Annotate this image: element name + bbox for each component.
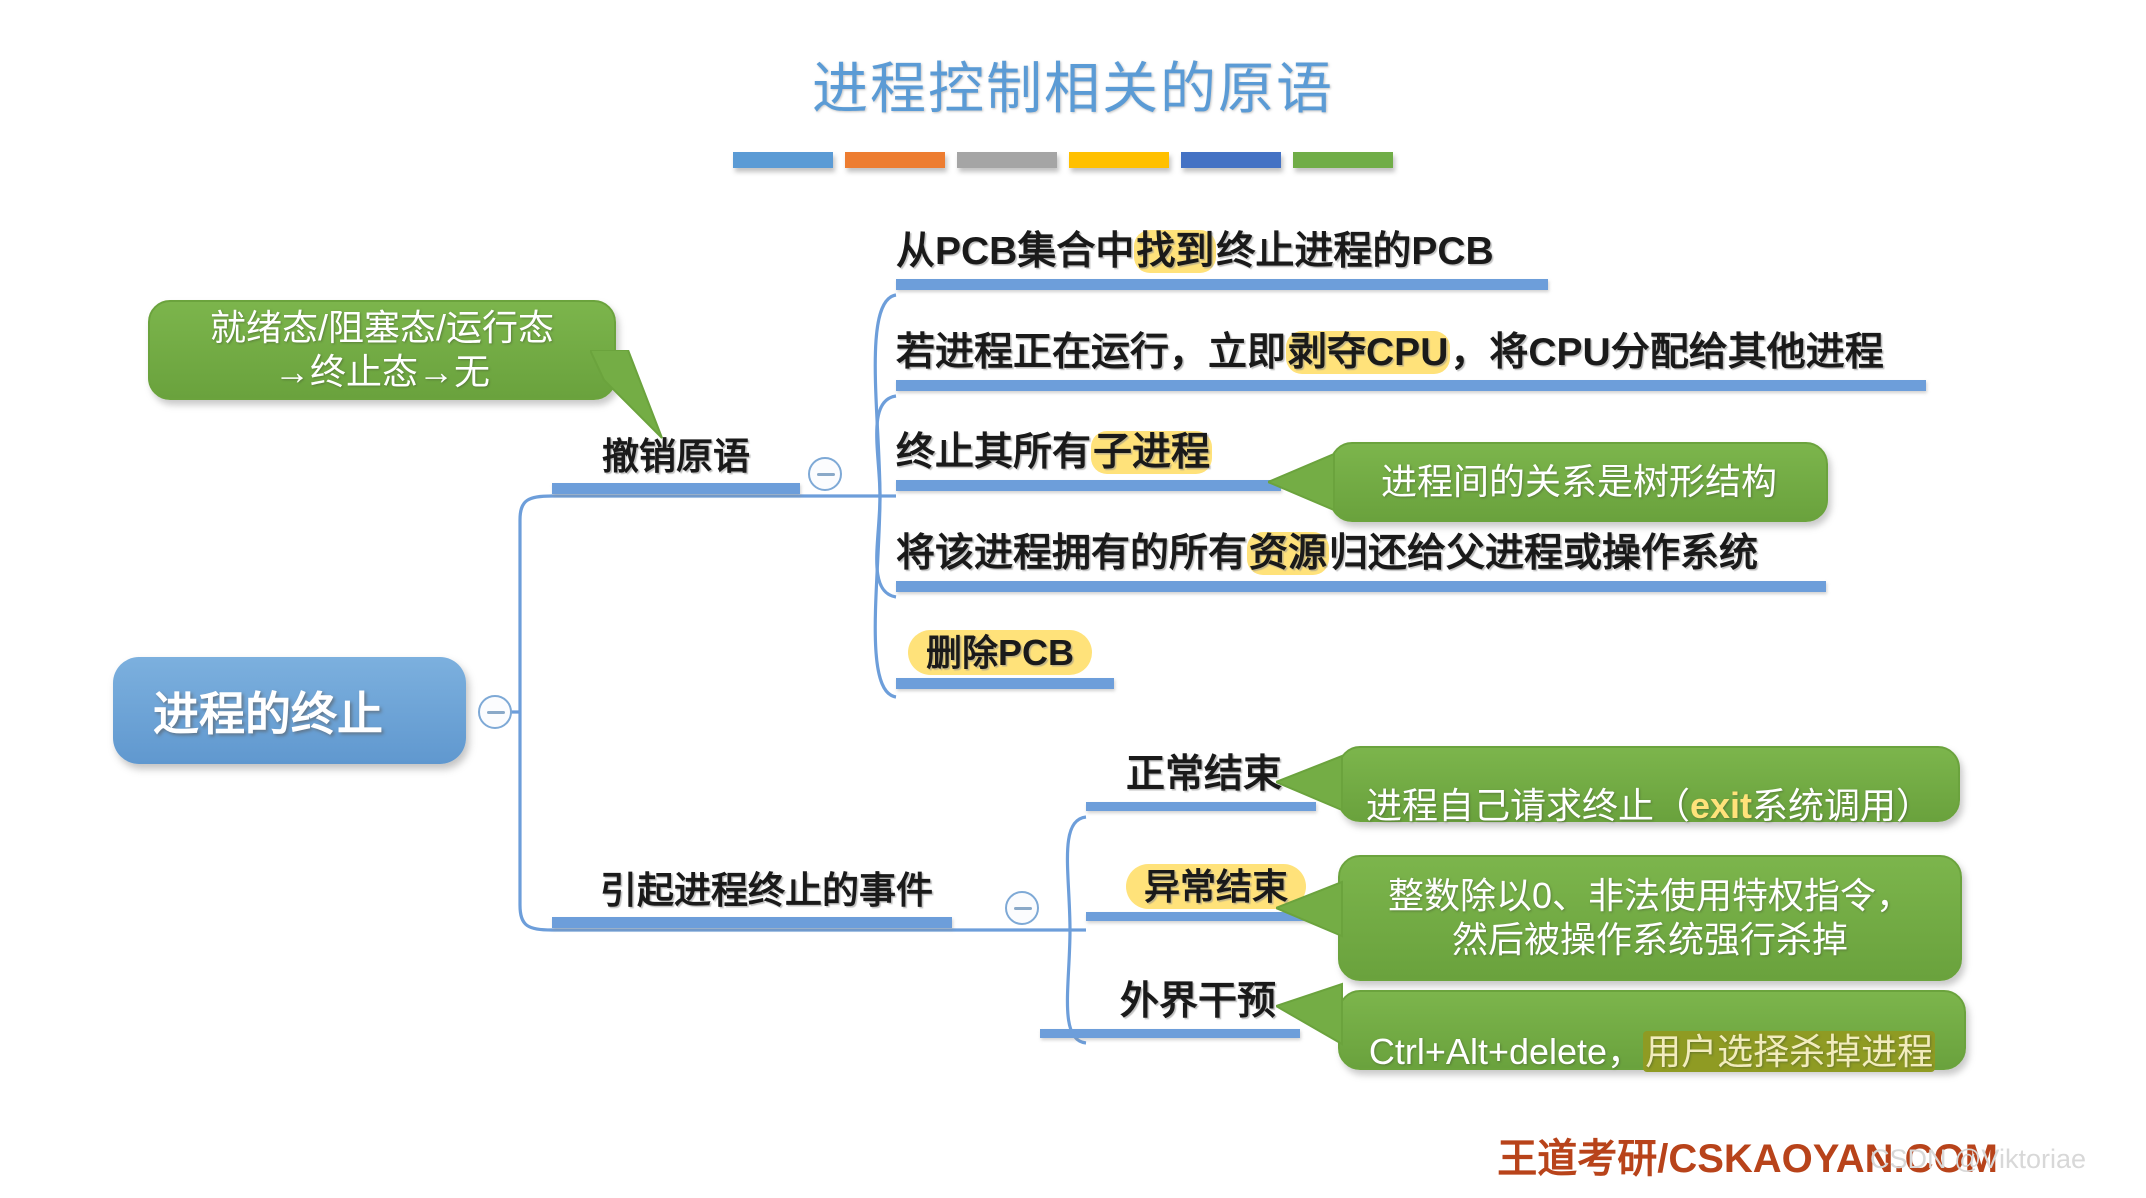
highlight-mark: 删除PCB: [908, 630, 1092, 675]
callout-abnormal-causes-tail: [1276, 880, 1346, 942]
mindmap-branch-termination-events[interactable]: 引起进程终止的事件: [600, 872, 1000, 928]
highlight-mark: exit: [1690, 785, 1752, 826]
mindmap-leaf-delete-pcb[interactable]: 删除PCB: [908, 634, 1138, 689]
callout-exit-syscall-text: 进程自己请求终止（exit系统调用）: [1348, 740, 1950, 828]
callout-exit-syscall-tail: [1276, 754, 1346, 816]
mindmap-leaf-delete-pcb-label: 删除PCB: [908, 634, 1138, 672]
minus-circle-icon-branch-1[interactable]: [808, 457, 842, 491]
callout-process-tree: 进程间的关系是树形结构: [1330, 442, 1828, 522]
mindmap-leaf-preempt-cpu-label: 若进程正在运行，立即剥夺CPU，将CPU分配给其他进程: [896, 333, 1926, 374]
accent-bar-4: [1069, 152, 1169, 168]
mindmap-leaf-return-resources-label: 将该进程拥有的所有资源归还给父进程或操作系统: [896, 534, 1826, 575]
highlight-mark: 子进程: [1091, 431, 1212, 474]
accent-bar-5: [1181, 152, 1281, 168]
accent-bar-3: [957, 152, 1057, 168]
mindmap-root-node[interactable]: 进程的终止: [113, 657, 466, 764]
highlight-mark: 资源: [1247, 532, 1329, 575]
callout-abnormal-causes: 整数除以0、非法使用特权指令， 然后被操作系统强行杀掉: [1338, 855, 1962, 981]
callout-process-tree-text: 进程间的关系是树形结构: [1363, 460, 1795, 504]
node-underline: [552, 483, 800, 494]
node-underline: [1040, 1029, 1300, 1038]
mindmap-leaf-find-pcb[interactable]: 从PCB集合中找到终止进程的PCB: [896, 232, 1596, 290]
minus-circle-icon-root[interactable]: [478, 695, 512, 729]
slide-canvas: 进程控制相关的原语: [0, 0, 2146, 1198]
highlight-mark: 用户选择杀掉进程: [1643, 1031, 1935, 1072]
callout-external-intervention-text: Ctrl+Alt+delete，用户选择杀掉进程: [1351, 986, 1953, 1074]
mindmap-root-label: 进程的终止: [153, 678, 383, 744]
accent-bar-2: [845, 152, 945, 168]
node-underline: [896, 279, 1548, 290]
callout-external-intervention-tail: [1276, 982, 1346, 1052]
callout-abnormal-causes-text: 整数除以0、非法使用特权指令， 然后被操作系统强行杀掉: [1370, 874, 1930, 962]
mindmap-branch-termination-events-label: 引起进程终止的事件: [600, 872, 1000, 911]
accent-bar-6: [1293, 152, 1393, 168]
callout-exit-syscall: 进程自己请求终止（exit系统调用）: [1338, 746, 1960, 822]
minus-circle-icon-branch-2[interactable]: [1005, 891, 1039, 925]
watermark-label: CSDN @Viktoriae: [1870, 1144, 2086, 1175]
accent-bar-1: [733, 152, 833, 168]
mindmap-leaf-find-pcb-label: 从PCB集合中找到终止进程的PCB: [896, 232, 1596, 273]
node-underline: [896, 480, 1281, 491]
mindmap-leaf-preempt-cpu[interactable]: 若进程正在运行，立即剥夺CPU，将CPU分配给其他进程: [896, 333, 1926, 391]
mindmap-leaf-return-resources[interactable]: 将该进程拥有的所有资源归还给父进程或操作系统: [896, 534, 1826, 592]
highlight-mark: 剥夺CPU: [1286, 331, 1450, 374]
callout-state-transition-tail: [590, 350, 710, 460]
page-title: 进程控制相关的原语: [0, 44, 2146, 125]
highlight-mark: 找到: [1134, 230, 1216, 273]
accent-bar-group: [733, 152, 1393, 168]
callout-process-tree-tail: [1268, 452, 1338, 516]
node-underline: [552, 917, 952, 928]
node-underline: [896, 581, 1826, 592]
callout-external-intervention: Ctrl+Alt+delete，用户选择杀掉进程: [1338, 990, 1966, 1070]
callout-state-transition: 就绪态/阻塞态/运行态 →终止态→无: [148, 300, 616, 400]
node-underline: [896, 678, 1114, 689]
node-underline: [896, 380, 1926, 391]
callout-state-transition-text: 就绪态/阻塞态/运行态 →终止态→无: [192, 306, 572, 394]
